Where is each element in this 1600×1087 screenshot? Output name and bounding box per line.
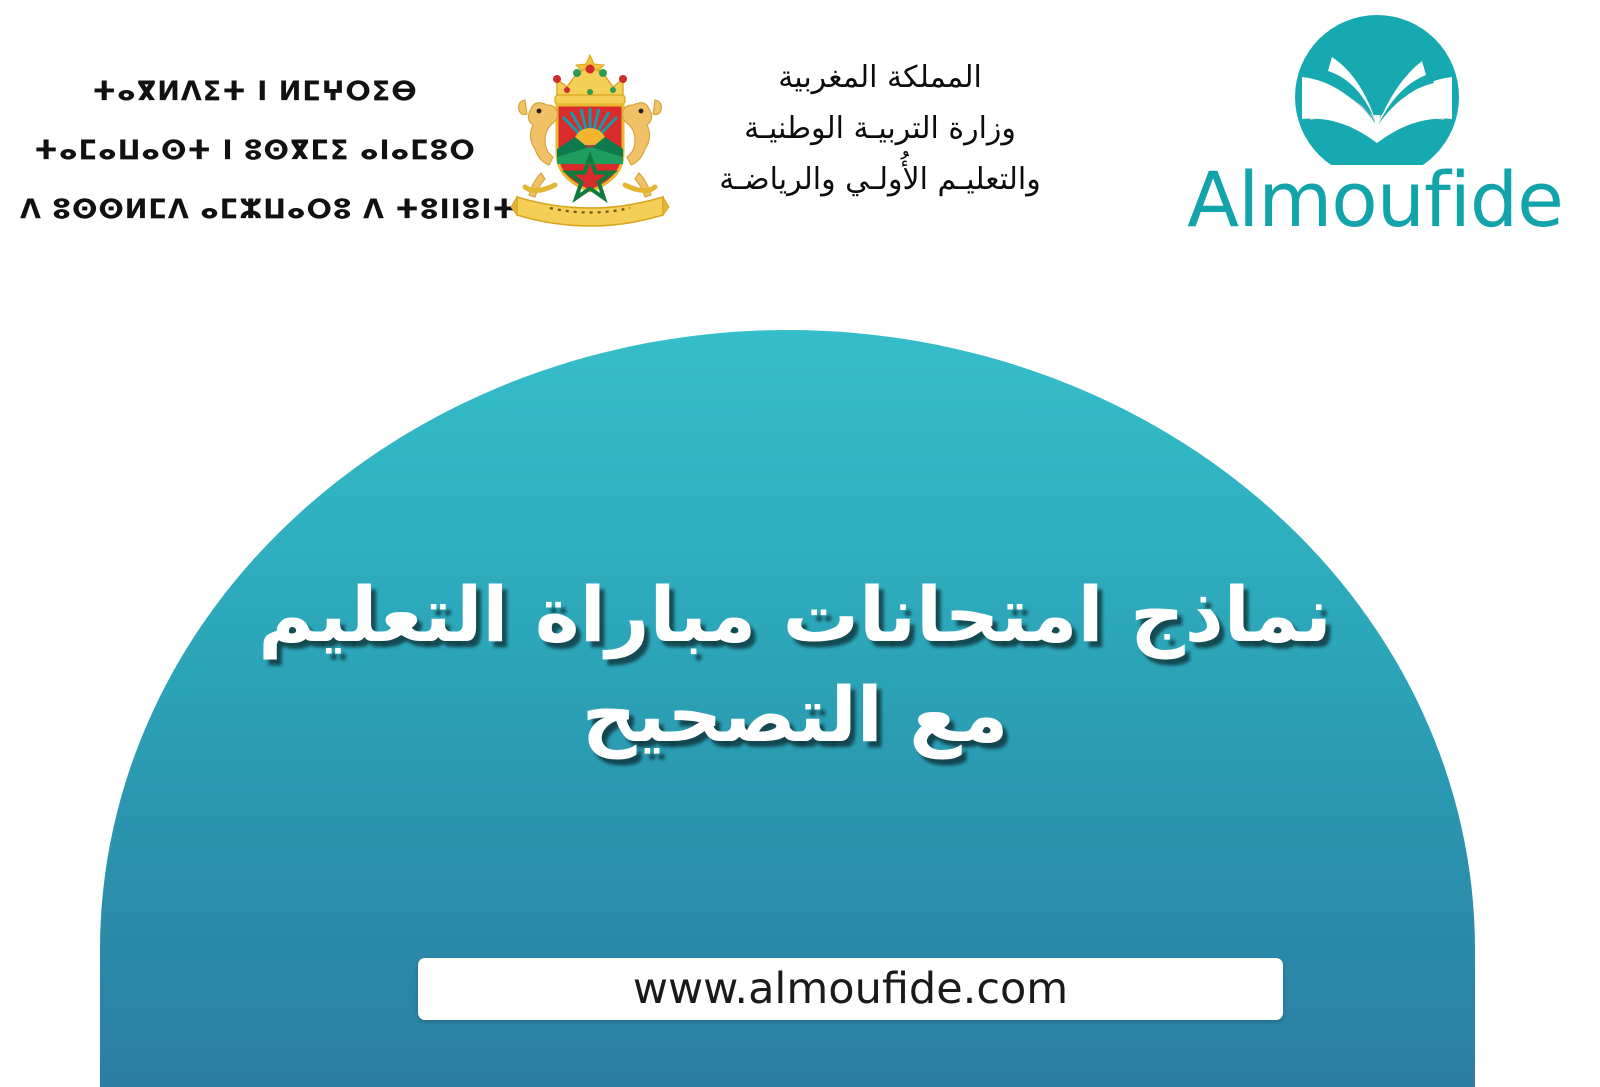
page-title: نماذج امتحانات مباراة التعليم مع التصحيح — [130, 565, 1460, 765]
tifinagh-line-1: ⵜⴰⴳⵍⴷⵉⵜ ⵏ ⵍⵎⵖⵔⵉⴱ — [20, 62, 490, 121]
page-title-line-1: نماذج امتحانات مباراة التعليم — [130, 565, 1460, 665]
tifinagh-ministry-block: ⵜⴰⴳⵍⴷⵉⵜ ⵏ ⵍⵎⵖⵔⵉⴱ ⵜⴰⵎⴰⵡⴰⵙⵜ ⵏ ⵓⵙⴳⵎⵉ ⴰⵏⴰⵎⵓⵔ… — [20, 62, 490, 239]
tifinagh-line-2: ⵜⴰⵎⴰⵡⴰⵙⵜ ⵏ ⵓⵙⴳⵎⵉ ⴰⵏⴰⵎⵓⵔ — [20, 121, 490, 180]
ministry-line-3: والتعليـم الأُولـي والرياضـة — [690, 154, 1070, 205]
ministry-arabic-block: المملكة المغربية وزارة التربيـة الوطنيـة… — [690, 52, 1070, 205]
open-book-circle-icon — [1280, 15, 1475, 165]
brand-wordmark: Almoufide — [1175, 155, 1575, 245]
ministry-line-1: المملكة المغربية — [690, 52, 1070, 103]
website-url-text[interactable]: www.almoufide.com — [633, 964, 1068, 1014]
moroccan-coat-of-arms-icon — [495, 45, 685, 235]
tifinagh-line-3: ⴷ ⵓⵙⵙⵍⵎⴷ ⴰⵎⵣⵡⴰⵔⵓ ⴷ ⵜⵓⵏⵏⵓⵏⵜ — [20, 180, 490, 239]
website-url-bar[interactable]: www.almoufide.com — [418, 958, 1283, 1020]
almoufide-logo: Almoufide — [1175, 15, 1575, 260]
poster-header: ⵜⴰⴳⵍⴷⵉⵜ ⵏ ⵍⵎⵖⵔⵉⴱ ⵜⴰⵎⴰⵡⴰⵙⵜ ⵏ ⵓⵙⴳⵎⵉ ⴰⵏⴰⵎⵓⵔ… — [0, 0, 1600, 300]
ministry-line-2: وزارة التربيـة الوطنيـة — [690, 103, 1070, 154]
page-title-line-2: مع التصحيح — [130, 665, 1460, 765]
poster-canvas: ⵜⴰⴳⵍⴷⵉⵜ ⵏ ⵍⵎⵖⵔⵉⴱ ⵜⴰⵎⴰⵡⴰⵙⵜ ⵏ ⵓⵙⴳⵎⵉ ⴰⵏⴰⵎⵓⵔ… — [0, 0, 1600, 1087]
